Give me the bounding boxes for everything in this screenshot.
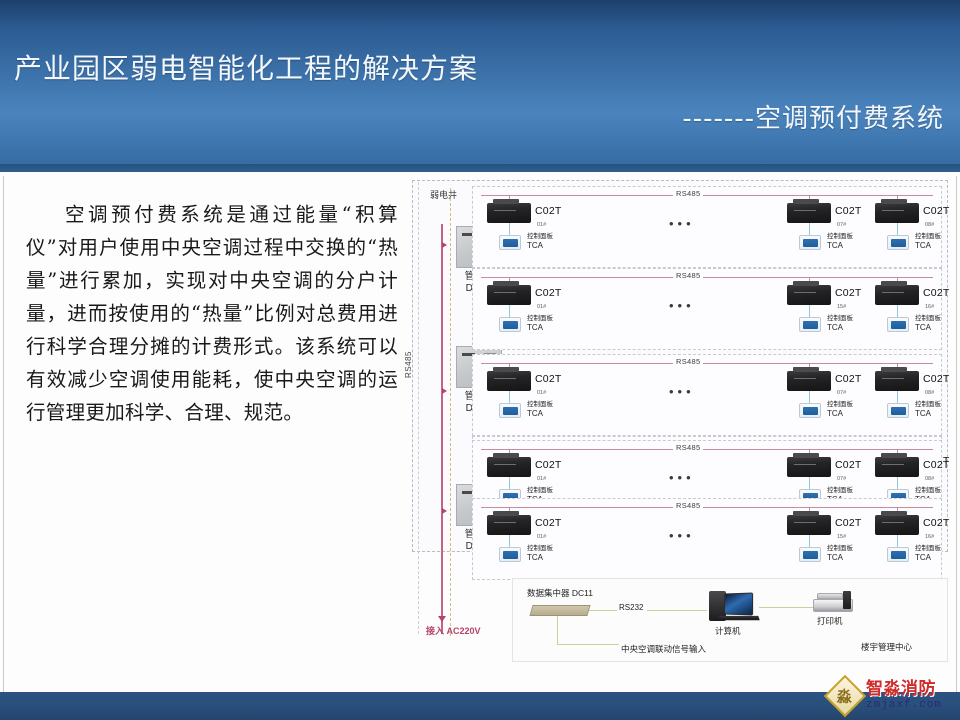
device-row-6: RS485 ••• C02T 01# 控制面板 TCA C02T 15# <box>472 498 942 580</box>
c02t-meter-icon <box>487 371 531 391</box>
trunk-arrow-1 <box>442 242 447 248</box>
row-bus-label: RS485 <box>673 501 703 510</box>
panel-name: 控制面板 <box>915 545 941 552</box>
device-row-1: RS485 ••• C02T 01# 控制面板 TCA C02T 07# <box>472 186 942 268</box>
device-number-label: 07# <box>837 476 846 482</box>
device-number-label: 01# <box>537 476 546 482</box>
device-node[interactable]: C02T 16# 控制面板 TCA <box>869 507 960 577</box>
c02t-meter-icon <box>487 457 531 477</box>
panel-link-line <box>509 477 510 489</box>
panel-name: 控制面板 <box>827 401 853 408</box>
slide-header: 产业园区弱电智能化工程的解决方案 -------空调预付费系统 <box>0 0 960 172</box>
device-row-3: RS485 ••• C02T 01# 控制面板 TCA C02T 07# <box>472 354 942 436</box>
device-node[interactable]: C02T 01# 控制面板 TCA <box>481 195 577 265</box>
panel-link-line <box>897 391 898 403</box>
panel-link-line <box>897 535 898 547</box>
device-number-label: 08# <box>925 476 934 482</box>
device-number-label: 07# <box>837 390 846 396</box>
device-node[interactable]: C02T 15# 控制面板 TCA <box>781 277 877 347</box>
device-type-label: C02T <box>535 459 561 471</box>
panel-link-line <box>509 305 510 317</box>
device-node[interactable]: C02T 15# 控制面板 TCA <box>781 507 877 577</box>
control-panel-icon <box>499 547 521 562</box>
panel-label: 控制面板 TCA <box>915 401 941 418</box>
slide-body: 空调预付费系统是通过能量“积算仪”对用户使用中央空调过程中交换的“热量”进行累加… <box>0 172 960 692</box>
linkage-input-label: 中央空调联动信号输入 <box>621 643 706 655</box>
collector-wire <box>647 610 707 611</box>
panel-label: 控制面板 TCA <box>527 233 553 250</box>
c02t-meter-icon <box>787 457 831 477</box>
system-topology-diagram: 弱电井 RS485 管理器 DM12 ··· 管理器 DM <box>412 178 950 668</box>
panel-label: 控制面板 TCA <box>915 315 941 332</box>
data-collector-label: 数据集中器 DC11 <box>527 587 593 599</box>
c02t-meter-icon <box>787 515 831 535</box>
panel-name: 控制面板 <box>527 545 553 552</box>
row-bus-label: RS485 <box>673 271 703 280</box>
panel-model: TCA <box>915 410 941 419</box>
left-border-rule <box>3 176 4 692</box>
c02t-meter-icon <box>875 285 919 305</box>
c02t-meter-icon <box>487 515 531 535</box>
device-number-label: 16# <box>925 304 934 310</box>
panel-name: 控制面板 <box>915 315 941 322</box>
panel-link-line <box>809 391 810 403</box>
panel-label: 控制面板 TCA <box>827 545 853 562</box>
panel-link-line <box>897 223 898 235</box>
panel-model: TCA <box>915 554 941 563</box>
weak-current-well-label: 弱电井 <box>430 188 457 201</box>
device-number-label: 08# <box>925 390 934 396</box>
row-bus-label: RS485 <box>673 357 703 366</box>
watermark-brand-en: zmjaxf.com <box>866 700 942 711</box>
panel-name: 控制面板 <box>527 487 553 494</box>
panel-link-line <box>509 391 510 403</box>
panel-link-line <box>509 223 510 235</box>
panel-name: 控制面板 <box>527 401 553 408</box>
printer-label: 打印机 <box>817 615 843 627</box>
c02t-meter-icon <box>487 203 531 223</box>
row-ellipsis: ••• <box>669 473 695 483</box>
device-number-label: 15# <box>837 534 846 540</box>
device-row-2: RS485 ••• C02T 01# 控制面板 TCA C02T 15# <box>472 268 942 350</box>
panel-label: 控制面板 TCA <box>527 315 553 332</box>
device-number-label: 01# <box>537 222 546 228</box>
panel-label: 控制面板 TCA <box>527 545 553 562</box>
device-type-label: C02T <box>535 287 561 299</box>
watermark-logo-icon: 淼 <box>824 675 866 717</box>
panel-link-line <box>897 305 898 317</box>
row-ellipsis: ••• <box>669 219 695 229</box>
device-node[interactable]: C02T 16# 控制面板 TCA <box>869 277 960 347</box>
device-type-label: C02T <box>923 517 949 529</box>
c02t-meter-icon <box>875 457 919 477</box>
watermark: 淼 智淼消防 zmjaxf.com <box>830 676 954 716</box>
device-node[interactable]: C02T 07# 控制面板 TCA <box>781 195 877 265</box>
device-type-label: C02T <box>923 287 949 299</box>
device-number-label: 08# <box>925 222 934 228</box>
device-node[interactable]: C02T 08# 控制面板 TCA <box>869 195 960 265</box>
row-ellipsis: ••• <box>669 387 695 397</box>
control-panel-icon <box>499 235 521 250</box>
device-type-label: C02T <box>835 373 861 385</box>
device-number-label: 01# <box>537 304 546 310</box>
control-panel-icon <box>499 403 521 418</box>
control-panel-icon <box>887 317 909 332</box>
device-type-label: C02T <box>923 373 949 385</box>
power-entry-arrow-icon <box>438 616 446 622</box>
linkage-wire <box>557 644 619 645</box>
panel-name: 控制面板 <box>827 487 853 494</box>
panel-link-line <box>809 535 810 547</box>
panel-name: 控制面板 <box>827 315 853 322</box>
row-ellipsis: ••• <box>669 301 695 311</box>
device-number-label: 07# <box>837 222 846 228</box>
device-type-label: C02T <box>835 287 861 299</box>
panel-model: TCA <box>527 324 553 333</box>
control-panel-icon <box>499 317 521 332</box>
device-number-label: 15# <box>837 304 846 310</box>
serial-label: RS232 <box>617 603 645 612</box>
panel-label: 控制面板 TCA <box>915 545 941 562</box>
device-number-label: 01# <box>537 534 546 540</box>
device-type-label: C02T <box>923 205 949 217</box>
trunk-arrow-3 <box>442 508 447 514</box>
device-type-label: C02T <box>923 459 949 471</box>
panel-name: 控制面板 <box>915 401 941 408</box>
device-node[interactable]: C02T 01# 控制面板 TCA <box>481 507 577 577</box>
row-bus-label: RS485 <box>673 443 703 452</box>
printer-wire <box>759 607 815 608</box>
watermark-text: 智淼消防 zmjaxf.com <box>866 681 942 711</box>
control-panel-icon <box>799 317 821 332</box>
control-panel-icon <box>887 235 909 250</box>
panel-name: 控制面板 <box>527 315 553 322</box>
panel-link-line <box>809 223 810 235</box>
panel-link-line <box>809 305 810 317</box>
row-ellipsis: ••• <box>669 531 695 541</box>
panel-model: TCA <box>527 554 553 563</box>
trunk-bus-label: RS485 <box>404 351 413 378</box>
panel-label: 控制面板 TCA <box>527 401 553 418</box>
power-entry-label: 接入 AC220V <box>426 624 481 637</box>
watermark-brand-cn: 智淼消防 <box>866 681 942 698</box>
control-panel-icon <box>799 235 821 250</box>
panel-model: TCA <box>827 554 853 563</box>
management-center-label: 楼宇管理中心 <box>861 641 912 653</box>
device-type-label: C02T <box>835 517 861 529</box>
panel-model: TCA <box>827 324 853 333</box>
watermark-logo-glyph: 淼 <box>837 685 852 706</box>
panel-name: 控制面板 <box>915 233 941 240</box>
device-node[interactable]: C02T 01# 控制面板 TCA <box>481 363 577 433</box>
data-collector-icon[interactable] <box>529 605 590 616</box>
body-paragraph: 空调预付费系统是通过能量“积算仪”对用户使用中央空调过程中交换的“热量”进行累加… <box>26 198 398 429</box>
page-title: 产业园区弱电智能化工程的解决方案 <box>14 47 478 87</box>
panel-link-line <box>897 477 898 489</box>
panel-name: 控制面板 <box>827 233 853 240</box>
panel-model: TCA <box>827 242 853 251</box>
device-node[interactable]: C02T 01# 控制面板 TCA <box>481 277 577 347</box>
panel-model: TCA <box>915 242 941 251</box>
panel-name: 控制面板 <box>915 487 941 494</box>
panel-name: 控制面板 <box>527 233 553 240</box>
panel-model: TCA <box>527 242 553 251</box>
row-bus-label: RS485 <box>673 189 703 198</box>
diagram-guide-line <box>418 182 419 634</box>
panel-model: TCA <box>827 410 853 419</box>
c02t-meter-icon <box>875 203 919 223</box>
printer-arm-icon <box>843 591 851 609</box>
c02t-meter-icon <box>875 371 919 391</box>
panel-name: 控制面板 <box>827 545 853 552</box>
panel-label: 控制面板 TCA <box>827 233 853 250</box>
panel-model: TCA <box>527 410 553 419</box>
c02t-meter-icon <box>787 371 831 391</box>
device-number-label: 01# <box>537 390 546 396</box>
computer-screen-icon <box>724 592 753 615</box>
panel-label: 控制面板 TCA <box>827 401 853 418</box>
right-border-rule <box>956 176 957 692</box>
linkage-wire <box>557 616 558 644</box>
collector-wire <box>589 610 617 611</box>
panel-label: 控制面板 TCA <box>827 315 853 332</box>
page-subtitle: -------空调预付费系统 <box>682 98 944 135</box>
panel-model: TCA <box>915 324 941 333</box>
rs485-trunk-line <box>441 224 443 634</box>
control-panel-icon <box>799 403 821 418</box>
panel-label: 控制面板 TCA <box>915 233 941 250</box>
c02t-meter-icon <box>787 285 831 305</box>
device-node[interactable]: C02T 07# 控制面板 TCA <box>781 363 877 433</box>
computer-label: 计算机 <box>715 625 741 637</box>
control-panel-icon <box>799 547 821 562</box>
panel-link-line <box>509 535 510 547</box>
c02t-meter-icon <box>787 203 831 223</box>
control-panel-icon <box>887 403 909 418</box>
device-type-label: C02T <box>835 205 861 217</box>
control-panel-icon <box>887 547 909 562</box>
panel-link-line <box>809 477 810 489</box>
device-node[interactable]: C02T 08# 控制面板 TCA <box>869 363 960 433</box>
c02t-meter-icon <box>487 285 531 305</box>
device-number-label: 16# <box>925 534 934 540</box>
c02t-meter-icon <box>875 515 919 535</box>
management-center-frame: 数据集中器 DC11 RS232 中央空调联动信号输入 计算机 打印机 楼宇管理… <box>512 578 948 662</box>
device-type-label: C02T <box>835 459 861 471</box>
device-type-label: C02T <box>535 517 561 529</box>
computer-keyboard-icon <box>718 616 759 620</box>
device-type-label: C02T <box>535 205 561 217</box>
device-type-label: C02T <box>535 373 561 385</box>
slide-footer-bar <box>0 692 960 720</box>
